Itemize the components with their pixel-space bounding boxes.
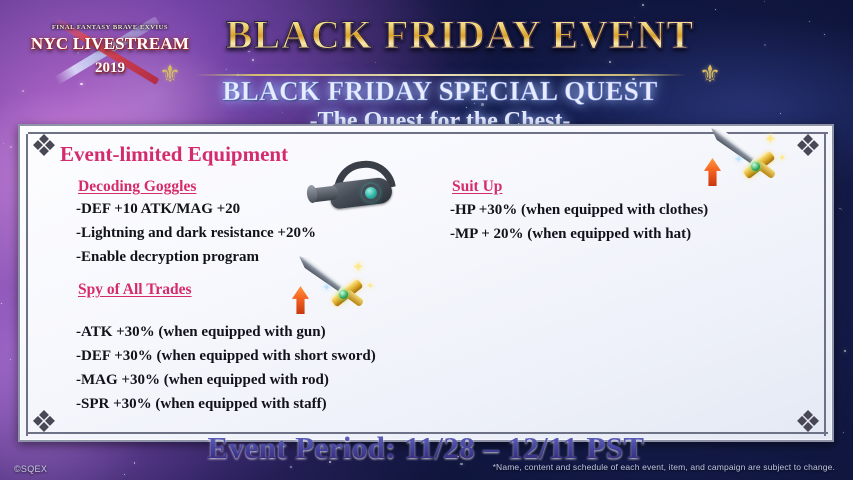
section-title: Event-limited Equipment bbox=[60, 142, 288, 167]
star-dot bbox=[843, 432, 844, 433]
star-dot bbox=[3, 143, 4, 144]
sword-upgrade-icon: ✦ ✦ ✦ bbox=[288, 262, 384, 324]
up-arrow-icon bbox=[292, 286, 309, 314]
star-dot bbox=[1, 303, 2, 304]
logo-franchise-text: FINAL FANTASY BRAVE EXVIUS bbox=[44, 24, 176, 31]
star-dot bbox=[844, 350, 846, 352]
page-title: BLACK FRIDAY EVENT bbox=[180, 14, 740, 56]
stat-line: -SPR +30% (when equipped with staff) bbox=[76, 396, 327, 413]
equipment-group-heading-spy-of-all-trades: Spy of All Trades bbox=[78, 281, 192, 299]
content-panel: ❖ ❖ ❖ ❖ Event-limited Equipment Decoding… bbox=[18, 124, 834, 442]
sparkle-icon: ✦ bbox=[778, 152, 786, 165]
goggles-lens bbox=[362, 184, 380, 202]
star-dot bbox=[124, 474, 125, 475]
stat-line: -DEF +30% (when equipped with short swor… bbox=[76, 348, 376, 365]
stat-line: -ATK +30% (when equipped with gun) bbox=[76, 324, 326, 341]
panel-edge-right bbox=[824, 134, 826, 436]
stat-line: -DEF +10 ATK/MAG +20 bbox=[76, 201, 240, 218]
star-dot bbox=[10, 146, 12, 148]
sparkle-icon: ✦ bbox=[352, 262, 365, 275]
star-dot bbox=[841, 209, 842, 210]
stat-line: -HP +30% (when equipped with clothes) bbox=[450, 202, 708, 219]
sparkle-icon: ✦ bbox=[322, 282, 331, 295]
slide-canvas: FINAL FANTASY BRAVE EXVIUS NYC LIVESTREA… bbox=[0, 0, 853, 480]
slide-header: FINAL FANTASY BRAVE EXVIUS NYC LIVESTREA… bbox=[0, 0, 853, 140]
sword-gem bbox=[751, 162, 760, 171]
equipment-group-heading-decoding-goggles: Decoding Goggles bbox=[78, 178, 196, 196]
sword-blade bbox=[708, 124, 757, 165]
star-dot bbox=[10, 359, 11, 360]
star-dot bbox=[290, 466, 291, 467]
event-period-banner: Event Period: 11/28 – 12/11 PST bbox=[18, 430, 834, 466]
disclaimer-text: *Name, content and schedule of each even… bbox=[493, 462, 835, 472]
logo-event-text: NYC LIVESTREAM bbox=[28, 34, 192, 54]
copyright-notice: ©SQEX bbox=[14, 464, 47, 474]
equipment-group-heading-suit-up: Suit Up bbox=[452, 178, 502, 196]
stat-line: -MP + 20% (when equipped with hat) bbox=[450, 226, 691, 243]
goggles-icon bbox=[302, 160, 402, 218]
stat-line: -Lightning and dark resistance +20% bbox=[76, 225, 316, 242]
stat-line: -MAG +30% (when equipped with rod) bbox=[76, 372, 329, 389]
page-subtitle: BLACK FRIDAY SPECIAL QUEST bbox=[150, 76, 730, 107]
stat-line: -Enable decryption program bbox=[76, 249, 259, 266]
sparkle-icon: ✦ bbox=[366, 280, 374, 293]
sword-blade bbox=[296, 252, 345, 293]
sword-upgrade-icon: ✦ ✦ ✦ bbox=[700, 134, 796, 196]
panel-edge-left bbox=[26, 134, 28, 436]
sparkle-icon: ✦ bbox=[734, 154, 743, 167]
up-arrow-icon bbox=[704, 158, 721, 186]
sparkle-icon: ✦ bbox=[764, 134, 777, 147]
sword-gem bbox=[339, 290, 348, 299]
